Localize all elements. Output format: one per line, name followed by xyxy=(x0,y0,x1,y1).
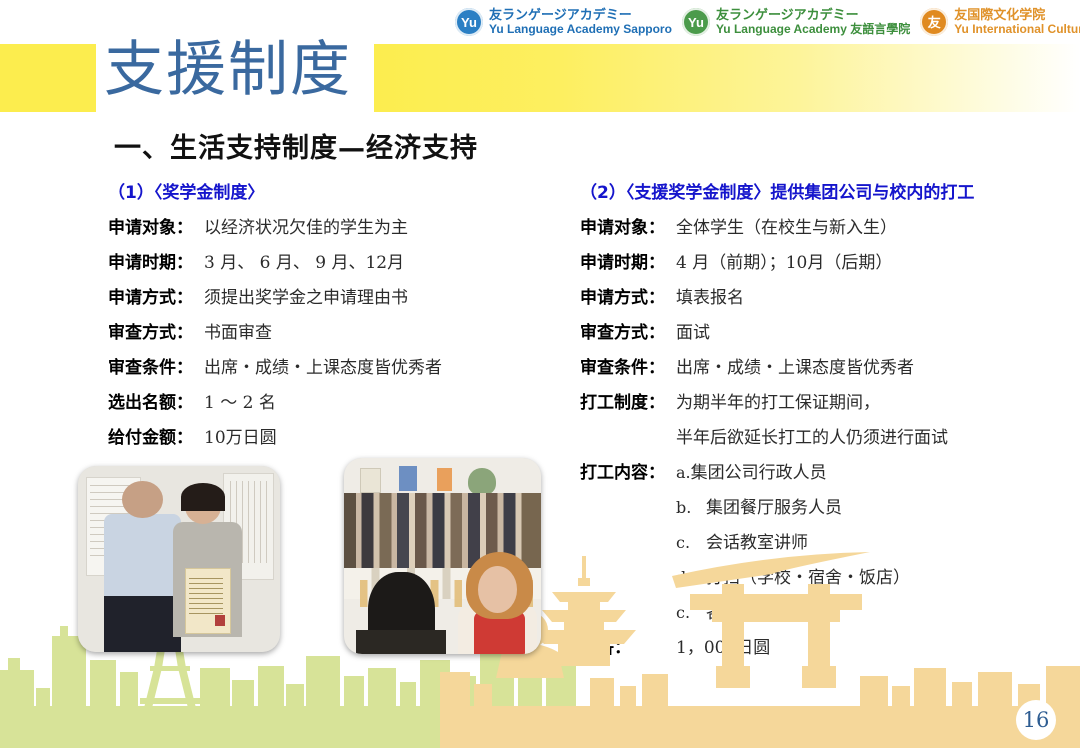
row-value: 半年后欲延长打工的人仍须进行面试 xyxy=(676,423,948,448)
work-item-text: 各种一日业务 xyxy=(706,598,808,623)
detail-row: 申请时期： 4 月（前期）；10月（后期） xyxy=(580,248,1080,278)
row-label: 申请方式： xyxy=(580,283,676,308)
logo-yu-international-cultural-academy: 友 友国際文化学院 Yu International Cultural Acad… xyxy=(920,8,1080,36)
left-column-heading: （1）〈奖学金制度〉 xyxy=(108,178,578,203)
row-label: 打工内容： xyxy=(580,458,676,483)
work-item-marker: a. xyxy=(676,463,691,482)
work-item-text: 集团餐厅服务人员 xyxy=(706,493,842,518)
row-label: 申请时期： xyxy=(108,248,204,273)
list-item: d. 打扫（学校・宿舍・饭店） xyxy=(676,563,1080,593)
work-item-first: a.集团公司行政人员 xyxy=(676,458,827,483)
page-number-badge: 16 xyxy=(1016,700,1056,740)
work-item-text: 会话教室讲师 xyxy=(706,528,808,553)
row-label: 时薪： xyxy=(580,633,676,658)
right-column: （2）〈支援奖学金制度〉提供集团公司与校内的打工 申请对象： 全体学生（在校生与… xyxy=(580,178,1080,668)
logo-jp-name: 友国際文化学院 xyxy=(954,8,1080,23)
logo-jp-name: 友ランゲージアカデミー xyxy=(489,8,672,23)
right-column-heading: （2）〈支援奖学金制度〉提供集团公司与校内的打工 xyxy=(580,178,1080,203)
work-items-list: b. 集团餐厅服务人员 c. 会话教室讲师 d. 打扫（学校・宿舍・饭店） c.… xyxy=(580,493,1080,628)
detail-row-continuation: 半年后欲延长打工的人仍须进行面试 xyxy=(580,423,1080,453)
left-column: （1）〈奖学金制度〉 申请对象： 以经济状况欠佳的学生为主 申请时期： 3 月、… xyxy=(108,178,578,458)
row-label: 选出名额： xyxy=(108,388,204,413)
row-label: 申请对象： xyxy=(108,213,204,238)
row-value: 面试 xyxy=(676,318,710,343)
row-value: 1 ～ 2 名 xyxy=(204,388,276,413)
row-label: 申请对象： xyxy=(580,213,676,238)
row-value: 出席・成绩・上课态度皆优秀者 xyxy=(204,353,442,378)
detail-row: 给付金额： 10万日圆 xyxy=(108,423,578,453)
work-item-text: 打扫（学校・宿舍・饭店） xyxy=(706,563,910,588)
section-heading: 一、生活支持制度—经济支持 xyxy=(114,126,478,165)
page-title: 支援制度 xyxy=(104,36,352,105)
wage-row: 时薪： 1，000日圆 xyxy=(580,633,1080,663)
row-label: 审查方式： xyxy=(108,318,204,343)
work-item-marker: d. xyxy=(676,568,706,587)
row-value: 为期半年的打工保证期间， xyxy=(676,388,880,413)
work-item-marker: b. xyxy=(676,498,706,517)
row-value: 10万日圆 xyxy=(204,423,277,448)
photo-content xyxy=(78,466,280,652)
row-label: 打工制度： xyxy=(580,388,676,413)
row-value: 须提出奖学金之申请理由书 xyxy=(204,283,408,308)
work-item-text: 集团公司行政人员 xyxy=(691,463,827,483)
row-value: 1，000日圆 xyxy=(676,633,770,658)
detail-row: 打工制度： 为期半年的打工保证期间， xyxy=(580,388,1080,418)
logo-yu-language-academy-taiwan: Yu 友ランゲージアカデミー Yu Language Academy 友語言學院 xyxy=(682,8,910,36)
detail-row: 审查条件： 出席・成绩・上课态度皆优秀者 xyxy=(108,353,578,383)
work-content-row: 打工内容： a.集团公司行政人员 xyxy=(580,458,1080,488)
logo-text-block: 友ランゲージアカデミー Yu Language Academy Sapporo xyxy=(489,8,672,36)
detail-row: 选出名额： 1 ～ 2 名 xyxy=(108,388,578,418)
work-item-marker: c. xyxy=(676,533,706,552)
scholarship-award-photo xyxy=(78,466,280,652)
logo-en-name: Yu Language Academy Sapporo xyxy=(489,23,672,36)
row-value: 3 月、 6 月、 9 月、12月 xyxy=(204,248,404,273)
detail-row: 审查方式： 书面审查 xyxy=(108,318,578,348)
logo-bar: Yu 友ランゲージアカデミー Yu Language Academy Sappo… xyxy=(455,4,1080,40)
detail-row: 审查条件： 出席・成绩・上课态度皆优秀者 xyxy=(580,353,1080,383)
detail-row: 审查方式： 面试 xyxy=(580,318,1080,348)
row-label: 申请方式： xyxy=(108,283,204,308)
logo-yu-language-academy-sapporo: Yu 友ランゲージアカデミー Yu Language Academy Sappo… xyxy=(455,8,672,36)
row-value: 4 月（前期）；10月（后期） xyxy=(676,248,892,273)
logo-jp-name: 友ランゲージアカデミー xyxy=(716,8,910,23)
logo-text-block: 友国際文化学院 Yu International Cultural Academ… xyxy=(954,8,1080,36)
slide: Yu 友ランゲージアカデミー Yu Language Academy Sappo… xyxy=(0,0,1080,748)
row-value: 以经济状况欠佳的学生为主 xyxy=(204,213,408,238)
yu-circle-icon: Yu xyxy=(682,8,710,36)
list-item: c. 会话教室讲师 xyxy=(676,528,1080,558)
work-item-marker: c. xyxy=(676,603,706,622)
row-value: 填表报名 xyxy=(676,283,744,308)
page-number: 16 xyxy=(1023,708,1050,732)
detail-row: 申请对象： 以经济状况欠佳的学生为主 xyxy=(108,213,578,243)
detail-row: 申请方式： 须提出奖学金之申请理由书 xyxy=(108,283,578,313)
detail-row: 申请方式： 填表报名 xyxy=(580,283,1080,313)
row-value: 书面审查 xyxy=(204,318,272,343)
row-label: 审查条件： xyxy=(108,353,204,378)
logo-en-name: Yu Language Academy 友語言學院 xyxy=(716,23,910,36)
row-label: 审查条件： xyxy=(580,353,676,378)
row-value: 出席・成绩・上课态度皆优秀者 xyxy=(676,353,914,378)
row-value: 全体学生（在校生与新入生） xyxy=(676,213,897,238)
you-kanji-circle-icon: 友 xyxy=(920,8,948,36)
detail-row: 申请对象： 全体学生（在校生与新入生） xyxy=(580,213,1080,243)
conversation-class-photo xyxy=(344,458,541,654)
list-item: b. 集团餐厅服务人员 xyxy=(676,493,1080,523)
photo-content xyxy=(344,458,541,654)
list-item: c. 各种一日业务 xyxy=(676,598,1080,628)
row-label: 审查方式： xyxy=(580,318,676,343)
yu-circle-icon: Yu xyxy=(455,8,483,36)
row-label: 申请时期： xyxy=(580,248,676,273)
logo-text-block: 友ランゲージアカデミー Yu Language Academy 友語言學院 xyxy=(716,8,910,36)
logo-en-name: Yu International Cultural Academy xyxy=(954,23,1080,36)
detail-row: 申请时期： 3 月、 6 月、 9 月、12月 xyxy=(108,248,578,278)
row-label: 给付金额： xyxy=(108,423,204,448)
